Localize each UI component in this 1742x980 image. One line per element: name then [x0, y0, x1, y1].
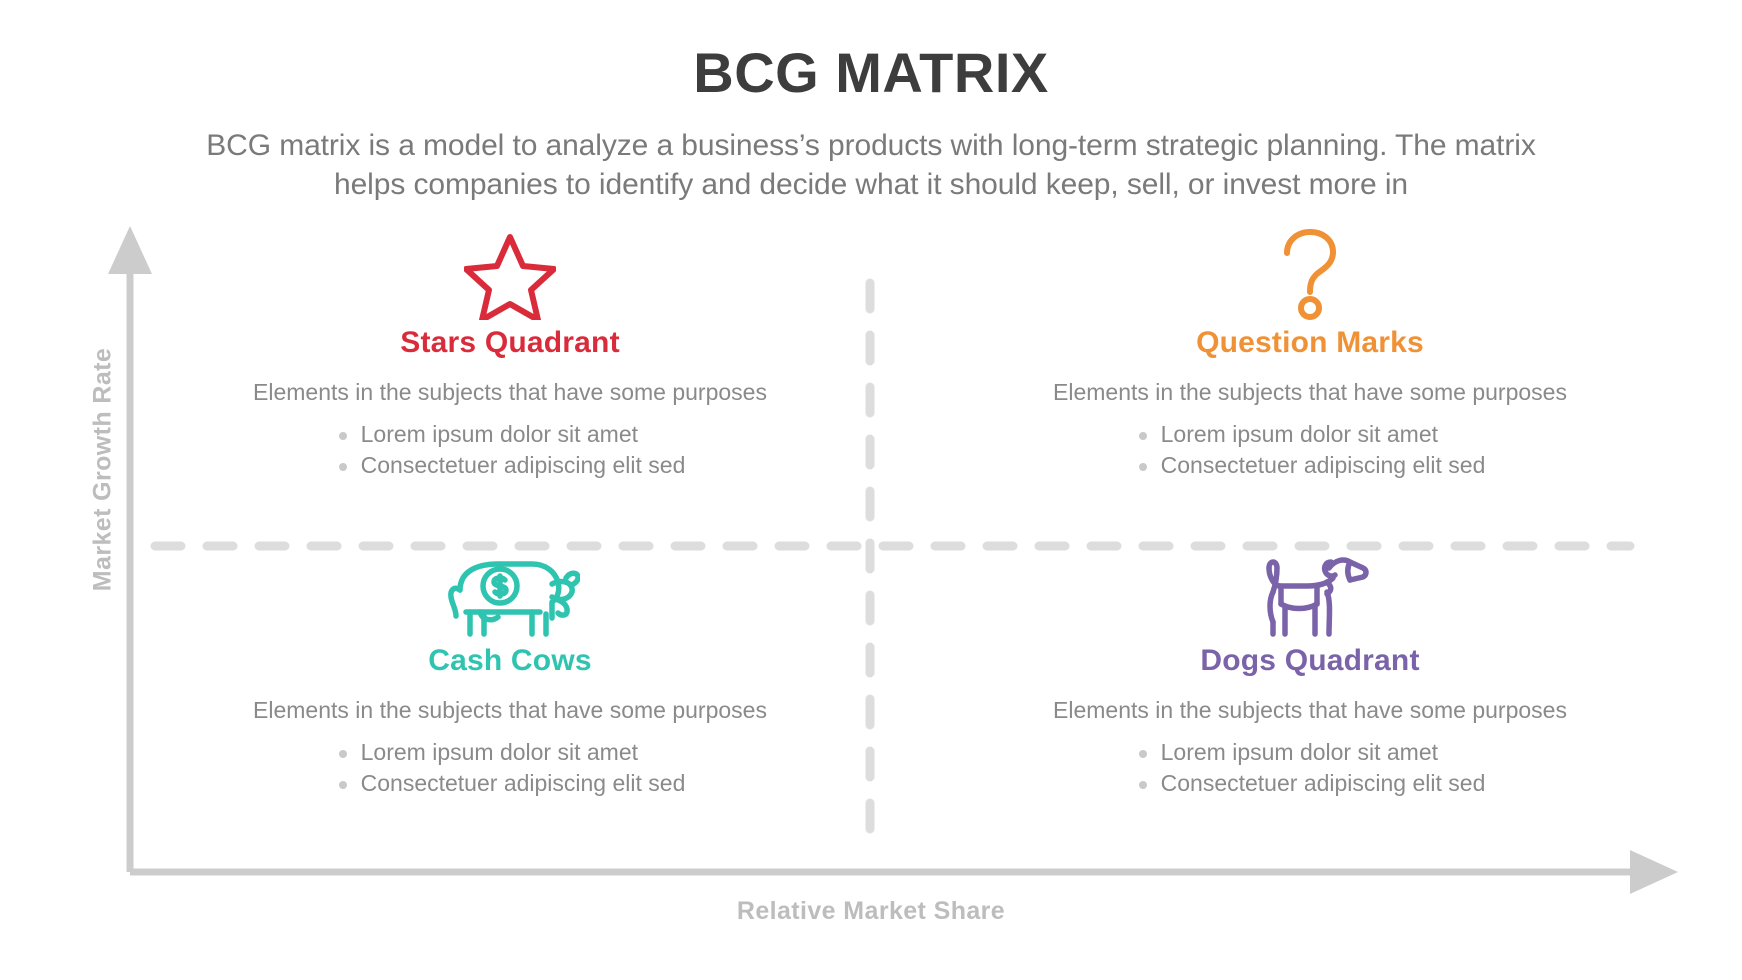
quadrant-question-marks[interactable]: Question Marks Elements in the subjects …: [930, 228, 1690, 528]
list-item: Lorem ipsum dolor sit amet: [335, 419, 686, 451]
quadrant-stars[interactable]: Stars Quadrant Elements in the subjects …: [130, 228, 890, 528]
quadrant-title: Cash Cows: [130, 644, 890, 677]
list-item: Lorem ipsum dolor sit amet: [1135, 419, 1486, 451]
quadrant-bullet-list: Lorem ipsum dolor sit amet Consectetuer …: [335, 419, 686, 482]
page-subtitle: BCG matrix is a model to analyze a busin…: [116, 126, 1626, 205]
quadrant-title: Dogs Quadrant: [930, 644, 1690, 677]
list-item: Consectetuer adipiscing elit sed: [335, 768, 686, 800]
quadrant-bullet-list: Lorem ipsum dolor sit amet Consectetuer …: [335, 737, 686, 800]
quadrant-description: Elements in the subjects that have some …: [930, 379, 1690, 407]
subtitle-line-2: helps companies to identify and decide w…: [116, 165, 1626, 205]
list-item: Consectetuer adipiscing elit sed: [335, 450, 686, 482]
list-item: Lorem ipsum dolor sit amet: [335, 737, 686, 769]
quadrant-grid: Stars Quadrant Elements in the subjects …: [130, 228, 1690, 858]
list-item: Consectetuer adipiscing elit sed: [1135, 450, 1486, 482]
star-icon: [130, 228, 890, 320]
quadrant-cash-cows[interactable]: Cash Cows Elements in the subjects that …: [130, 546, 890, 846]
quadrant-title: Stars Quadrant: [130, 326, 890, 359]
list-item: Consectetuer adipiscing elit sed: [1135, 768, 1486, 800]
quadrant-description: Elements in the subjects that have some …: [130, 379, 890, 407]
quadrant-dogs[interactable]: Dogs Quadrant Elements in the subjects t…: [930, 546, 1690, 846]
page-title: BCG MATRIX: [0, 42, 1742, 104]
cow-icon: [130, 546, 890, 638]
quadrant-description: Elements in the subjects that have some …: [130, 697, 890, 725]
y-axis-label: Market Growth Rate: [89, 305, 118, 635]
quadrant-description: Elements in the subjects that have some …: [930, 697, 1690, 725]
quadrant-bullet-list: Lorem ipsum dolor sit amet Consectetuer …: [1135, 737, 1486, 800]
quadrant-bullet-list: Lorem ipsum dolor sit amet Consectetuer …: [1135, 419, 1486, 482]
question-mark-icon: [930, 228, 1690, 320]
dog-icon: [930, 546, 1690, 638]
bcg-matrix-infographic: BCG MATRIX BCG matrix is a model to anal…: [0, 0, 1742, 980]
x-axis-label: Relative Market Share: [0, 897, 1742, 926]
quadrant-title: Question Marks: [930, 326, 1690, 359]
header: BCG MATRIX BCG matrix is a model to anal…: [0, 42, 1742, 205]
list-item: Lorem ipsum dolor sit amet: [1135, 737, 1486, 769]
subtitle-line-1: BCG matrix is a model to analyze a busin…: [116, 126, 1626, 166]
